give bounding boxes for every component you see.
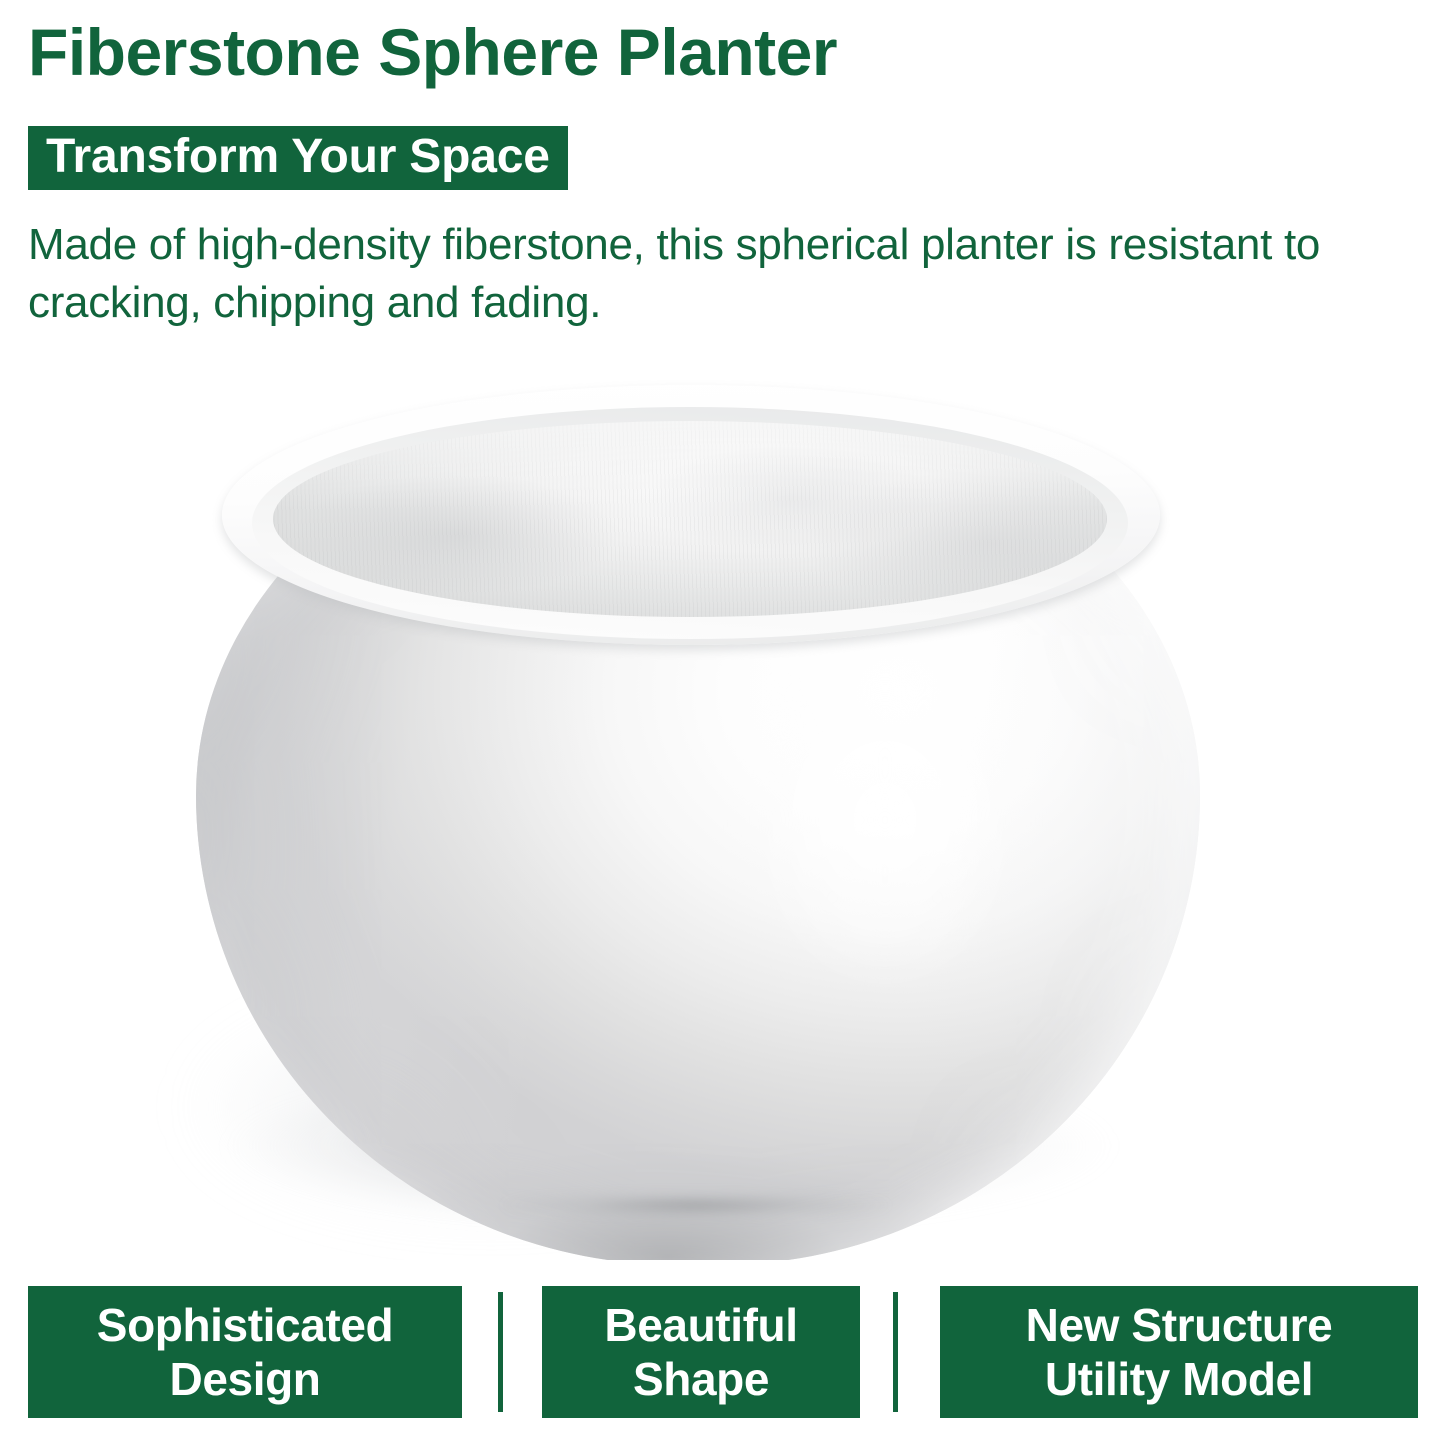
feature-badge-line1: New Structure: [1026, 1299, 1333, 1351]
spacer: [860, 1286, 893, 1418]
spacer: [503, 1286, 542, 1418]
product-photo: [0, 345, 1445, 1260]
planter-base-contact: [470, 1193, 940, 1225]
planter-interior-texture: [273, 421, 1107, 617]
feature-badge-line2: Shape: [633, 1353, 769, 1405]
feature-badge-line2: Utility Model: [1045, 1353, 1313, 1405]
subtitle-badge-wrap: Transform Your Space: [28, 126, 568, 190]
feature-badge-line1: Sophisticated: [97, 1299, 393, 1351]
page-title: Fiberstone Sphere Planter: [28, 14, 1348, 90]
spacer: [462, 1286, 498, 1418]
feature-badge-line2: Design: [170, 1353, 321, 1405]
feature-bar: Sophisticated Design Beautiful Shape New…: [28, 1286, 1418, 1418]
spacer: [898, 1286, 940, 1418]
planter-specular-highlight: [700, 595, 1070, 1045]
feature-badge-sophisticated-design: Sophisticated Design: [28, 1286, 462, 1418]
feature-badge-new-structure-utility-model: New Structure Utility Model: [940, 1286, 1418, 1418]
feature-badge-line1: Beautiful: [604, 1299, 797, 1351]
product-description: Made of high-density fiberstone, this sp…: [28, 216, 1418, 332]
feature-badge-beautiful-shape: Beautiful Shape: [542, 1286, 860, 1418]
product-marketing-image: Fiberstone Sphere Planter Transform Your…: [0, 0, 1445, 1445]
subtitle-badge: Transform Your Space: [28, 126, 568, 190]
